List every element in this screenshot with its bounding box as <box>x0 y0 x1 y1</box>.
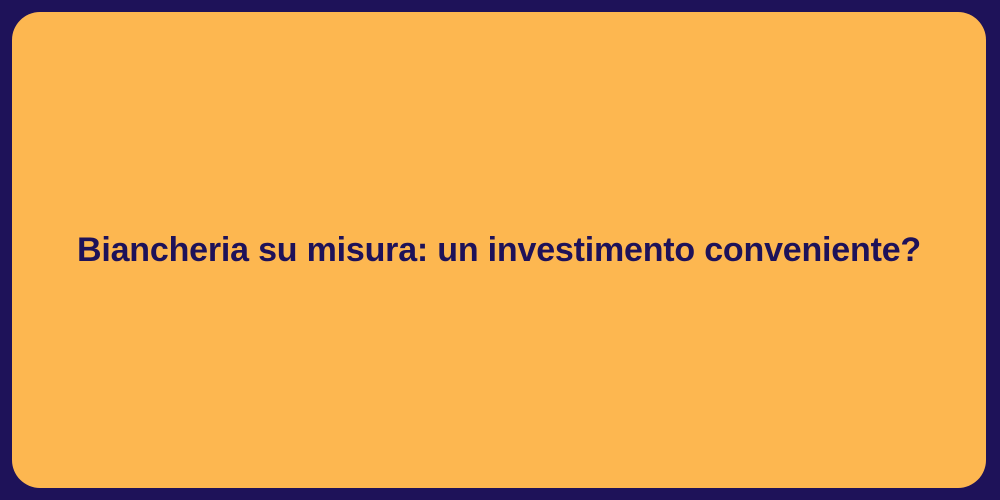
banner-frame: Biancheria su misura: un investimento co… <box>0 0 1000 500</box>
banner-card: Biancheria su misura: un investimento co… <box>12 12 986 488</box>
banner-title: Biancheria su misura: un investimento co… <box>77 229 921 272</box>
